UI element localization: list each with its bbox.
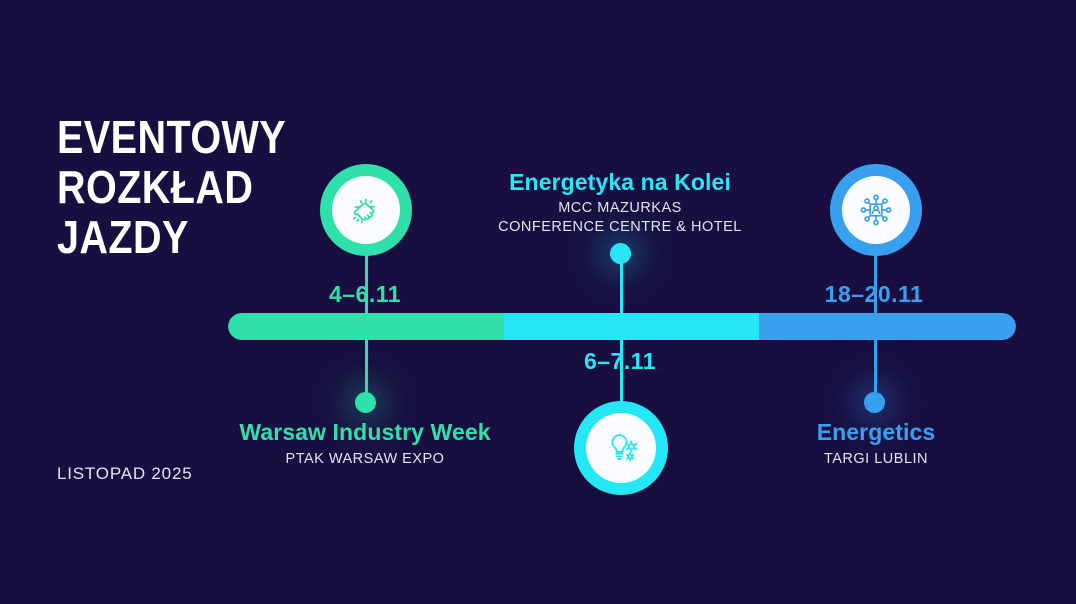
- timeline-segment-cyan: [504, 313, 759, 340]
- icon-circle-warsaw-industry-week[interactable]: [320, 164, 412, 256]
- event-name: Energetyka na Kolei: [440, 169, 800, 196]
- event-venue-line-1: MCC MAZURKAS: [440, 199, 800, 218]
- event-label-warsaw-industry-week: Warsaw Industry Week PTAK WARSAW EXPO: [185, 419, 545, 469]
- timeline-segment-green: [228, 313, 504, 340]
- infographic-canvas: EVENTOWY ROZKŁAD JAZDY LISTOPAD 2025: [0, 0, 1076, 604]
- network-person-icon: [855, 189, 897, 231]
- timeline-bar: [228, 313, 1016, 340]
- event-name: Warsaw Industry Week: [185, 419, 545, 446]
- marker-dot-event2: [610, 243, 631, 264]
- title-line-2: ROZKŁAD: [57, 162, 332, 212]
- timeline-segment-blue: [759, 313, 1016, 340]
- lightbulb-gears-icon: [600, 427, 642, 469]
- title-line-3: JAZDY: [57, 212, 332, 262]
- event-venue-line-2: CONFERENCE CENTRE & HOTEL: [440, 218, 800, 237]
- marker-dot-event3: [864, 392, 885, 413]
- icon-circle-energetyka-na-kolei[interactable]: [574, 401, 668, 495]
- date-label-event1: 4–6.11: [285, 281, 445, 308]
- marker-dot-event1: [355, 392, 376, 413]
- date-label-event2: 6–7.11: [540, 348, 700, 375]
- handshake-icon: [346, 190, 386, 230]
- event-label-energetyka-na-kolei: Energetyka na Kolei MCC MAZURKAS CONFERE…: [440, 169, 800, 237]
- event-venue: TARGI LUBLIN: [696, 450, 1056, 469]
- event-label-energetics: Energetics TARGI LUBLIN: [696, 419, 1056, 469]
- connector-event2-up: [620, 255, 623, 317]
- date-caption: LISTOPAD 2025: [57, 464, 192, 484]
- event-venue: PTAK WARSAW EXPO: [185, 450, 545, 469]
- event-name: Energetics: [696, 419, 1056, 446]
- icon-circle-energetics[interactable]: [830, 164, 922, 256]
- title-line-1: EVENTOWY: [57, 112, 332, 162]
- date-label-event3: 18–20.11: [794, 281, 954, 308]
